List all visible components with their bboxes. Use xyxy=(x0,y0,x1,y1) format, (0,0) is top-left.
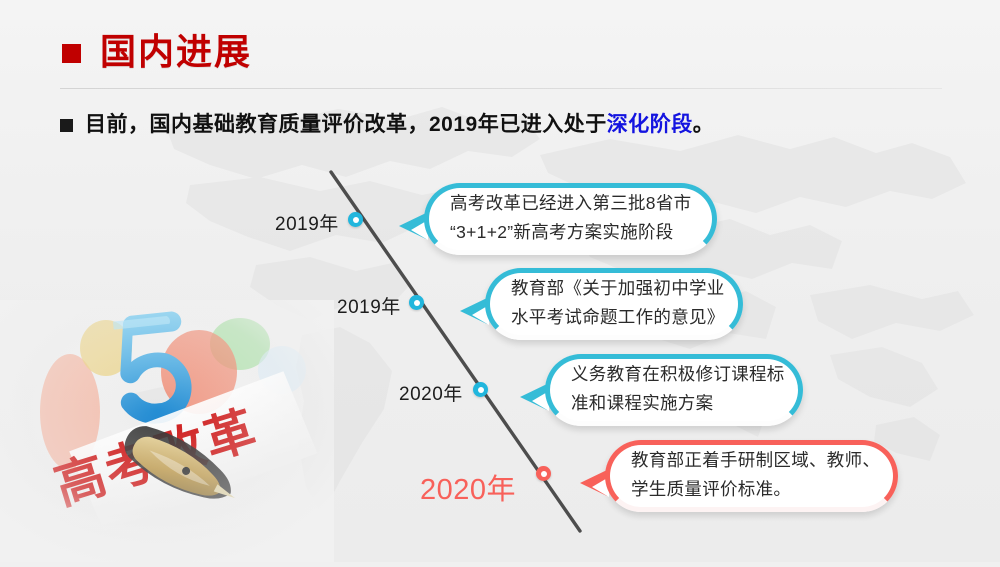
subtitle-row: 目前，国内基础教育质量评价改革，2019年已进入处于深化阶段。 xyxy=(60,108,960,142)
callout-bubble-2[interactable]: 教育部《关于加强初中学业 水平考试命题工作的意见》 xyxy=(485,268,743,340)
subtitle-text-before: 目前，国内基础教育质量评价改革，2019年已进入处于 xyxy=(85,110,607,140)
timeline-year-label-3: 2020年 xyxy=(399,379,463,406)
title-divider xyxy=(60,88,942,89)
slide-background: 国内进展 目前，国内基础教育质量评价改革，2019年已进入处于深化阶段。 201… xyxy=(0,0,1000,562)
bubble-line-2b: 水平考试命题工作的意见》 xyxy=(511,303,721,332)
timeline-year-label-2: 2019年 xyxy=(337,292,401,319)
timeline-node-dot-2[interactable] xyxy=(409,295,424,310)
bubble-line-1b: “3+1+2”新高考方案实施阶段 xyxy=(450,218,695,247)
timeline-node-dot-3[interactable] xyxy=(473,382,488,397)
bubble-line-2a: 教育部《关于加强初中学业 xyxy=(511,274,721,303)
slide-header: 国内进展 xyxy=(0,0,1000,95)
timeline-node-dot-4[interactable] xyxy=(536,466,551,481)
callout-bubble-3[interactable]: 义务教育在积极修订课程标 准和课程实施方案 xyxy=(545,354,803,426)
subtitle-highlight: 深化阶段 xyxy=(607,110,693,140)
title-bullet-icon xyxy=(62,44,81,63)
timeline-year-label-1: 2019年 xyxy=(275,209,339,236)
decorative-photo-gaokao-reform: 高考改革 xyxy=(0,300,334,562)
bubble-line-3b: 准和课程实施方案 xyxy=(571,389,781,418)
subtitle-text-after: 。 xyxy=(693,110,715,140)
bubble-line-4a: 教育部正着手研制区域、教师、 xyxy=(631,446,876,475)
timeline-node-dot-1[interactable] xyxy=(348,212,363,227)
bubble-line-4b: 学生质量评价标准。 xyxy=(631,475,876,504)
callout-bubble-1[interactable]: 高考改革已经进入第三批8省市 “3+1+2”新高考方案实施阶段 xyxy=(424,183,717,255)
subtitle-bullet-icon xyxy=(60,119,73,132)
callout-bubble-4[interactable]: 教育部正着手研制区域、教师、 学生质量评价标准。 xyxy=(605,440,898,512)
timeline-year-label-4: 2020年 xyxy=(420,466,516,508)
bubble-line-1a: 高考改革已经进入第三批8省市 xyxy=(450,189,695,218)
page-title: 国内进展 xyxy=(100,28,252,76)
bubble-line-3a: 义务教育在积极修订课程标 xyxy=(571,360,781,389)
